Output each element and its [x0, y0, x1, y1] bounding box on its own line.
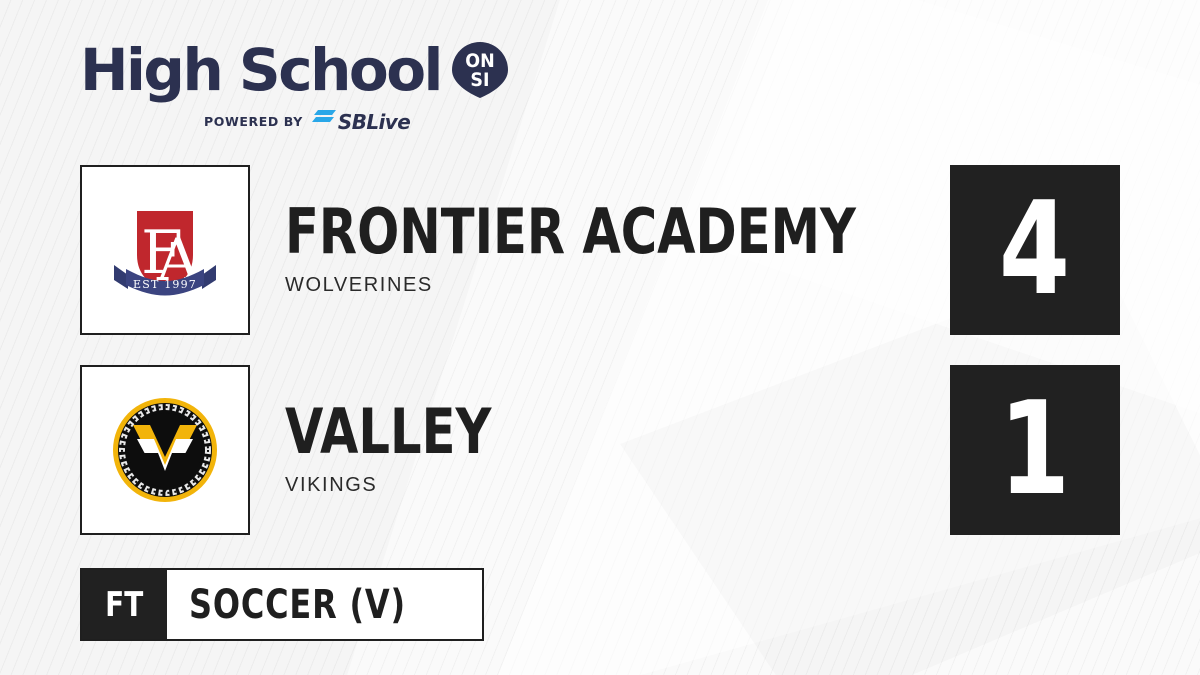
- team-score: 1: [999, 386, 1070, 514]
- team-row: F A EST 1997 FRONTIER ACADEMY WOLVERINES: [80, 165, 860, 335]
- team-row: VALLEY VIKINGS: [80, 365, 860, 535]
- team-name: VALLEY: [285, 403, 491, 460]
- brand-logo-row: High School ON SI: [80, 40, 510, 100]
- team-text-block: FRONTIER ACADEMY WOLVERINES: [285, 165, 999, 335]
- team-text-block: VALLEY VIKINGS: [285, 365, 543, 535]
- team-mascot: VIKINGS: [285, 474, 543, 497]
- sblive-wordmark: SBLive: [338, 112, 410, 132]
- scoreboard-graphic: High School ON SI POWERED BY: [0, 0, 1200, 675]
- frontier-academy-shield-logo: F A EST 1997: [80, 165, 250, 335]
- powered-by-label: POWERED BY: [204, 114, 303, 129]
- background-polygon-2: [480, 0, 1200, 675]
- team-name: FRONTIER ACADEMY: [285, 203, 856, 260]
- valley-vikings-circle-logo: [80, 365, 250, 535]
- sblive-logo: SBLive: [312, 109, 410, 134]
- team-score-box: 1: [950, 365, 1120, 535]
- svg-text:SI: SI: [470, 69, 489, 91]
- status-sport-badge: SOCCER (V): [167, 570, 482, 639]
- team-score: 4: [999, 186, 1070, 314]
- status-period-label: FT: [105, 585, 143, 625]
- game-status-bar: FT SOCCER (V): [80, 568, 484, 641]
- brand-header: High School ON SI POWERED BY: [80, 40, 510, 134]
- status-period-badge: FT: [82, 570, 167, 639]
- map-pin-icon: ON SI: [450, 40, 510, 100]
- status-sport-label: SOCCER (V): [189, 582, 406, 628]
- brand-title: High School: [80, 41, 441, 99]
- team-mascot: WOLVERINES: [285, 274, 999, 297]
- powered-by-row: POWERED BY SBLive: [204, 109, 510, 134]
- team-score-box: 4: [950, 165, 1120, 335]
- logo-est-text: EST 1997: [133, 278, 197, 291]
- sblive-s-icon: [312, 109, 336, 134]
